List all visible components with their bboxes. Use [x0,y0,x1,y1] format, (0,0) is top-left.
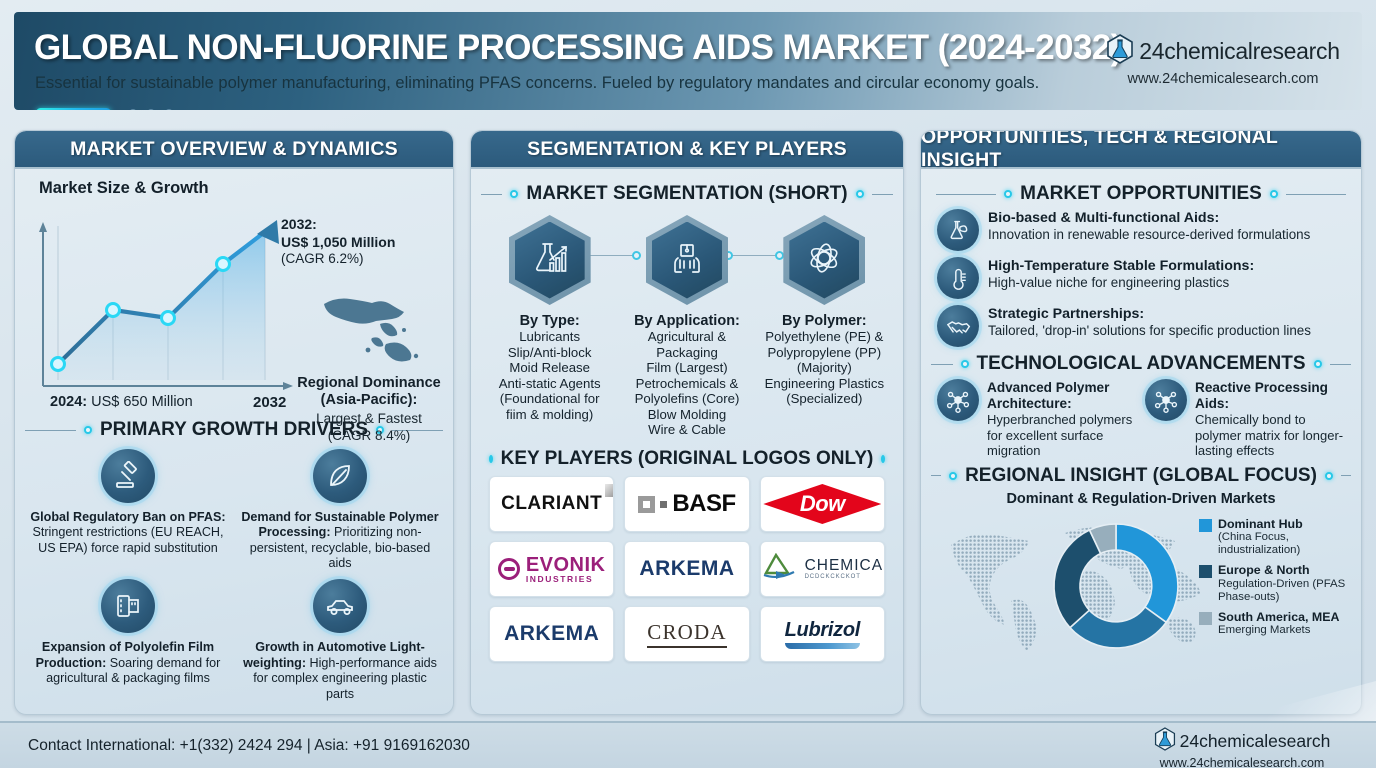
logo-card-clariant[interactable]: CLARIANT [489,476,614,532]
panel1-heading: MARKET OVERVIEW & DYNAMICS [15,131,453,169]
opportunity-item: High-Temperature Stable Formulations: Hi… [937,257,1345,299]
logo-text-arkema: ARKEMA [639,557,734,581]
section-node-right-icon [856,190,864,198]
segment-item: Polyethylene (PE) & [758,329,890,345]
opportunities-heading: MARKET OPPORTUNITIES [1020,183,1262,205]
section-node-left-icon [949,472,957,480]
footer-contact: Contact International: +1(332) 2424 294 … [28,737,470,755]
footer-brand-name: 24chemicalesearch [1180,731,1331,752]
clariant-square-icon [605,484,614,497]
logo-card-chemica[interactable]: CHEMICA DCDCKCKCKOT [760,541,885,597]
section-node-right-icon [1314,360,1322,368]
section-node-left-icon [510,190,518,198]
key-players-logo-grid: CLARIANT BASF Dow EVONIK [489,476,885,662]
panel2-heading: SEGMENTATION & KEY PLAYERS [471,131,903,169]
segment-by-polymer: By Polymer: Polyethylene (PE) & Polyprop… [758,211,890,438]
logo-subtext-evonik: INDUSTRIES [526,575,606,584]
chemica-mark-icon [762,553,798,586]
logo-card-dow[interactable]: Dow [760,476,885,532]
logo-card-basf[interactable]: BASF [624,476,749,532]
panel3-heading: OPPORTUNITIES, TECH & REGIONAL INSIGHT [921,131,1361,169]
segment-item: Polyolefins (Core) [621,391,753,407]
legend-item: Europe & North Regulation-Driven (PFAS P… [1199,563,1362,603]
legend-title: South America, MEA [1218,610,1339,624]
legend-swatch-icon [1199,519,1212,532]
section-node-right-icon [1325,472,1333,480]
logo-text-dow: Dow [763,484,881,524]
driver-title: Global Regulatory Ban on PFAS: [30,510,225,524]
driver-body: Stringent restrictions (EU REACH, US EPA… [32,525,223,554]
opportunity-title: High-Temperature Stable Formulations: [988,258,1254,275]
legend-swatch-icon [1199,565,1212,578]
driver-item: Demand for Sustainable Polymer Processin… [237,445,443,571]
evonik-mark-icon [498,558,520,580]
logo-card-lubrizol[interactable]: Lubrizol [760,606,885,662]
logo-card-arkema[interactable]: ARKEMA [624,541,749,597]
chart-end-value: US$ 1,050 Million [281,234,395,250]
section-node-right-icon [1270,190,1278,198]
legend-item: Dominant Hub (China Focus, industrializa… [1199,517,1362,557]
driver-item: Growth in Automotive Light-weighting: Hi… [237,575,443,701]
segment-title: By Application: [621,313,753,329]
panel-market-overview: MARKET OVERVIEW & DYNAMICS Market Size &… [14,130,454,715]
segment-by-type: By Type: Lubricants Slip/Anti-block Moid… [484,211,616,438]
regional-heading-row: REGIONAL INSIGHT (GLOBAL FOCUS) [931,465,1351,487]
opportunity-item: Bio-based & Multi-functional Aids: Innov… [937,209,1345,251]
legend-title: Europe & North [1218,563,1362,577]
asia-pacific-map-icon [293,290,445,371]
tech-heading-row: TECHNOLOGICAL ADVANCEMENTS [931,353,1351,375]
segment-by-application: By Application: Agricultural & Packaging… [621,211,753,438]
progress-dot-1 [129,109,137,111]
driver-item: Global Regulatory Ban on PFAS: Stringent… [25,445,231,571]
connector-node-icon [632,251,641,260]
page-title: GLOBAL NON-FLUORINE PROCESSING AIDS MARK… [34,28,1122,68]
header-banner: GLOBAL NON-FLUORINE PROCESSING AIDS MARK… [14,12,1362,110]
segment-item: (Specialized) [758,391,890,407]
segment-item: Lubricants [484,329,616,345]
footer-brand-url: www.24chemicalesearch.com [1122,756,1362,768]
infographic-page: GLOBAL NON-FLUORINE PROCESSING AIDS MARK… [0,0,1376,768]
page-subtitle: Essential for sustainable polymer manufa… [35,74,1039,93]
regional-dominance-block: Regional Dominance (Asia-Pacific): Large… [293,290,445,444]
segment-item: (Majority) [758,360,890,376]
flask-hexagon-icon [1106,34,1134,69]
section-node-left-icon [489,455,493,463]
tech-heading: TECHNOLOGICAL ADVANCEMENTS [977,353,1306,375]
regional-donut-chart [1041,515,1191,657]
car-icon [313,579,367,633]
segment-item: fiim & molding) [484,407,616,423]
logo-text-evonik: EVONIK [526,555,606,575]
chart-axis-end-label: 2032 [253,394,286,411]
panel-segmentation: SEGMENTATION & KEY PLAYERS MARKET SEGMEN… [470,130,904,715]
regional-subtitle: Dominant & Regulation-Driven Markets [931,491,1351,507]
hands-package-icon [667,238,707,283]
segment-item: Petrochemicals & [621,376,753,392]
segment-item: Blow Molding [621,407,753,423]
logo-text-basf: BASF [672,490,735,518]
brand-name: 24chemicalresearch [1139,38,1339,65]
logo-text-lubrizol: Lubrizol [785,619,860,642]
molecule-icon [1145,379,1187,421]
logo-text-chemica: CHEMICA [805,558,883,574]
regional-legend: Dominant Hub (China Focus, industrializa… [1199,517,1362,643]
legend-sub: Emerging Markets [1218,624,1339,637]
regional-dominance-line1: Largest & Fastest [293,411,445,427]
opportunity-title: Bio-based & Multi-functional Aids: [988,210,1310,227]
legend-title: Dominant Hub [1218,517,1362,531]
logo-text-arkema-2: ARKEMA [504,622,599,646]
driver-item: Expansion of Polyolefin Film Production:… [25,575,231,701]
segment-item: Moid Release [484,360,616,376]
progress-bar [36,108,111,110]
flask-hexagon-icon [1154,727,1176,756]
basf-square-icon [638,496,655,513]
tech-body: Hyperbranched polymers for excellent sur… [987,412,1137,459]
tech-item: Advanced Polymer Architecture: Hyperbran… [937,379,1137,459]
brand-logo: 24chemicalresearch www.24chemicalesearch… [1098,34,1348,87]
growth-drivers-grid: Global Regulatory Ban on PFAS: Stringent… [25,445,443,702]
segment-item: Engineering Plastics [758,376,890,392]
progress-dot-2 [147,109,155,111]
molecule-icon [937,379,979,421]
progress-dot-3 [165,109,173,111]
logo-card-evonik[interactable]: EVONIK INDUSTRIES [489,541,614,597]
basf-dot-icon [660,501,667,508]
segmentation-heading-row: MARKET SEGMENTATION (SHORT) [481,183,893,205]
legend-sub: Regulation-Driven (PFAS Phase-outs) [1218,578,1362,604]
regional-heading: REGIONAL INSIGHT (GLOBAL FOCUS) [965,465,1317,487]
tech-body: Chemically bond to polymer matrix for lo… [1195,412,1345,459]
opportunity-item: Strategic Partnerships: Tailored, 'drop-… [937,305,1345,347]
section-node-left-icon [961,360,969,368]
segment-title: By Type: [484,313,616,329]
flask-growth-chart-icon [530,238,570,283]
opportunity-title: Strategic Partnerships: [988,306,1311,323]
thermometer-icon [937,257,979,299]
chart-end-year: 2032: [281,216,317,232]
chart-axis-start-value: US$ 650 Million [87,394,193,410]
tech-grid: Advanced Polymer Architecture: Hyperbran… [937,379,1345,459]
segment-item: Slip/Anti-block [484,345,616,361]
segmentation-row: By Type: Lubricants Slip/Anti-block Moid… [481,211,893,438]
section-node-left-icon [1004,190,1012,198]
chart-axis-start-label: 2024: US$ 650 Million [50,394,193,410]
segment-connector [586,255,636,256]
segment-item: Anti-static Agents [484,376,616,392]
segment-item: Wire & Cable [621,422,753,438]
footer-bar: Contact International: +1(332) 2424 294 … [0,721,1376,768]
opportunity-body: Tailored, 'drop-in' solutions for specif… [988,323,1311,339]
logo-subtext-chemica: DCDCKCKCKOT [805,574,883,580]
opportunity-body: High-value niche for engineering plastic… [988,275,1254,291]
legend-item: South America, MEA Emerging Markets [1199,610,1362,637]
flask-leaf-icon [937,209,979,251]
panel-opportunities: OPPORTUNITIES, TECH & REGIONAL INSIGHT M… [920,130,1362,715]
regional-visual: Dominant Hub (China Focus, industrializa… [931,509,1351,659]
market-growth-chart: 2032: US$ 1,050 Million (CAGR 6.2%) 2024… [25,198,445,413]
chart-title: Market Size & Growth [39,179,443,198]
chart-end-cagr: (CAGR 6.2%) [281,251,364,266]
segment-item: Polypropylene (PP) [758,345,890,361]
segment-item: Film (Largest) [621,360,753,376]
regional-dominance-title: Regional Dominance (Asia-Pacific): [293,375,445,410]
opportunity-body: Innovation in renewable resource-derived… [988,227,1310,243]
chart-end-annotation: 2032: US$ 1,050 Million (CAGR 6.2%) [281,216,395,268]
brand-url: www.24chemicalesearch.com [1098,71,1348,87]
key-players-heading-row: KEY PLAYERS (ORIGINAL LOGOS ONLY) [481,448,893,470]
logo-card-croda[interactable]: CRODA [624,606,749,662]
gavel-icon [101,449,155,503]
section-node-right-icon [881,455,885,463]
section-node-left-icon [84,426,92,434]
legend-sub: (China Focus, industrialization) [1218,531,1362,557]
opportunities-heading-row: MARKET OPPORTUNITIES [931,183,1351,205]
tech-item: Reactive Processing Aids: Chemically bon… [1145,379,1345,459]
leaf-icon [313,449,367,503]
legend-swatch-icon [1199,612,1212,625]
segment-item: Agricultural & Packaging [621,329,753,360]
regional-dominance-line2: (CAGR 8.4%) [293,428,445,444]
lubrizol-swoosh-icon [785,643,860,649]
logo-text-croda: CRODA [647,620,727,648]
segment-connector [729,255,779,256]
segment-item: (Foundational for [484,391,616,407]
atom-icon [804,238,844,283]
key-players-heading: KEY PLAYERS (ORIGINAL LOGOS ONLY) [501,448,874,470]
segmentation-heading: MARKET SEGMENTATION (SHORT) [526,183,847,205]
chart-axis-start-year: 2024: [50,394,87,410]
footer-brand: 24chemicalesearch www.24chemicalesearch.… [1122,727,1362,768]
logo-card-arkema-2[interactable]: ARKEMA [489,606,614,662]
logo-text-clariant: CLARIANT [501,493,602,514]
tech-title: Reactive Processing Aids: [1195,380,1345,412]
progress-indicator [36,108,173,110]
film-roll-icon [101,579,155,633]
tech-title: Advanced Polymer Architecture: [987,380,1137,412]
handshake-icon [937,305,979,347]
segment-title: By Polymer: [758,313,890,329]
